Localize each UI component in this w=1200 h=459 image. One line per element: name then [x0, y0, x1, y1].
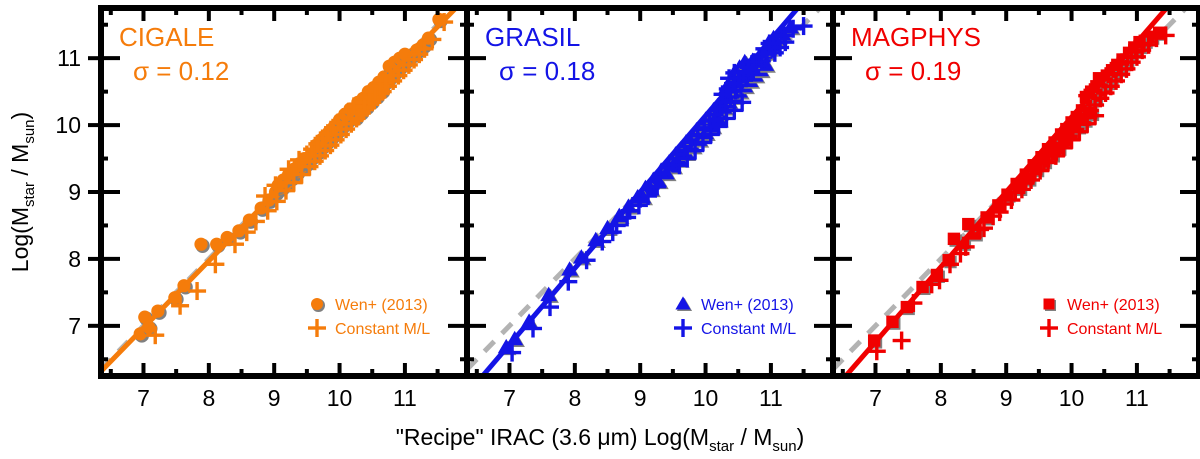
figure-container: CIGALEσ = 0.12Wen+ (2013)Constant M/LGRA… — [0, 0, 1200, 459]
scatter-plot-svg: CIGALEσ = 0.12Wen+ (2013)Constant M/LGRA… — [0, 0, 1200, 459]
y-tick-label: 9 — [68, 179, 81, 205]
x-tick-label: 11 — [759, 385, 783, 411]
x-tick-label: 9 — [634, 385, 647, 411]
x-tick-label: 11 — [393, 385, 417, 411]
legend-label: Wen+ (2013) — [1067, 297, 1160, 314]
panel-grasil: GRASILσ = 0.18Wen+ (2013)Constant M/L — [467, 0, 833, 394]
panel-magphys: MAGPHYSσ = 0.19Wen+ (2013)Constant M/L — [833, 0, 1199, 391]
legend-marker-circle — [311, 298, 323, 310]
legend-label: Wen+ (2013) — [335, 297, 428, 314]
y-tick-label: 7 — [68, 313, 81, 339]
panel-title-magphys: MAGPHYS — [851, 22, 981, 52]
x-tick-label: 11 — [1125, 385, 1149, 411]
y-tick-label: 11 — [57, 45, 81, 71]
x-tick-label: 8 — [568, 385, 581, 411]
x-tick-label: 7 — [503, 385, 516, 411]
y-axis-title: Log(Mstar / Msun) — [7, 112, 38, 272]
data-point-circle — [194, 238, 207, 251]
panel-sigma-cigale: σ = 0.12 — [133, 56, 229, 86]
panels-group: CIGALEσ = 0.12Wen+ (2013)Constant M/LGRA… — [88, 0, 1199, 394]
panel-title-grasil: GRASIL — [485, 22, 580, 52]
panel-sigma-magphys: σ = 0.19 — [865, 56, 961, 86]
x-tick-label: 7 — [137, 385, 150, 411]
legend-label: Constant M/L — [701, 321, 796, 338]
legend-label: Constant M/L — [335, 321, 430, 338]
x-tick-label: 9 — [268, 385, 281, 411]
panel-sigma-grasil: σ = 0.18 — [499, 56, 595, 86]
x-tick-label: 8 — [934, 385, 947, 411]
x-tick-label: 10 — [1059, 385, 1085, 411]
legend-label: Wen+ (2013) — [701, 297, 794, 314]
x-tick-label: 10 — [327, 385, 353, 411]
legend-marker-square — [1044, 299, 1055, 310]
x-tick-label: 7 — [869, 385, 882, 411]
panel-cigale: CIGALEσ = 0.12Wen+ (2013)Constant M/L — [88, 0, 467, 376]
x-tick-label: 8 — [202, 385, 215, 411]
x-axis-title: "Recipe" IRAC (3.6 μm) Log(Mstar / Msun) — [396, 424, 805, 455]
y-tick-label: 10 — [55, 112, 81, 138]
y-tick-label: 8 — [68, 246, 81, 272]
legend-label: Constant M/L — [1067, 321, 1162, 338]
panel-title-cigale: CIGALE — [119, 22, 214, 52]
x-tick-label: 10 — [693, 385, 719, 411]
x-tick-label: 9 — [1000, 385, 1013, 411]
